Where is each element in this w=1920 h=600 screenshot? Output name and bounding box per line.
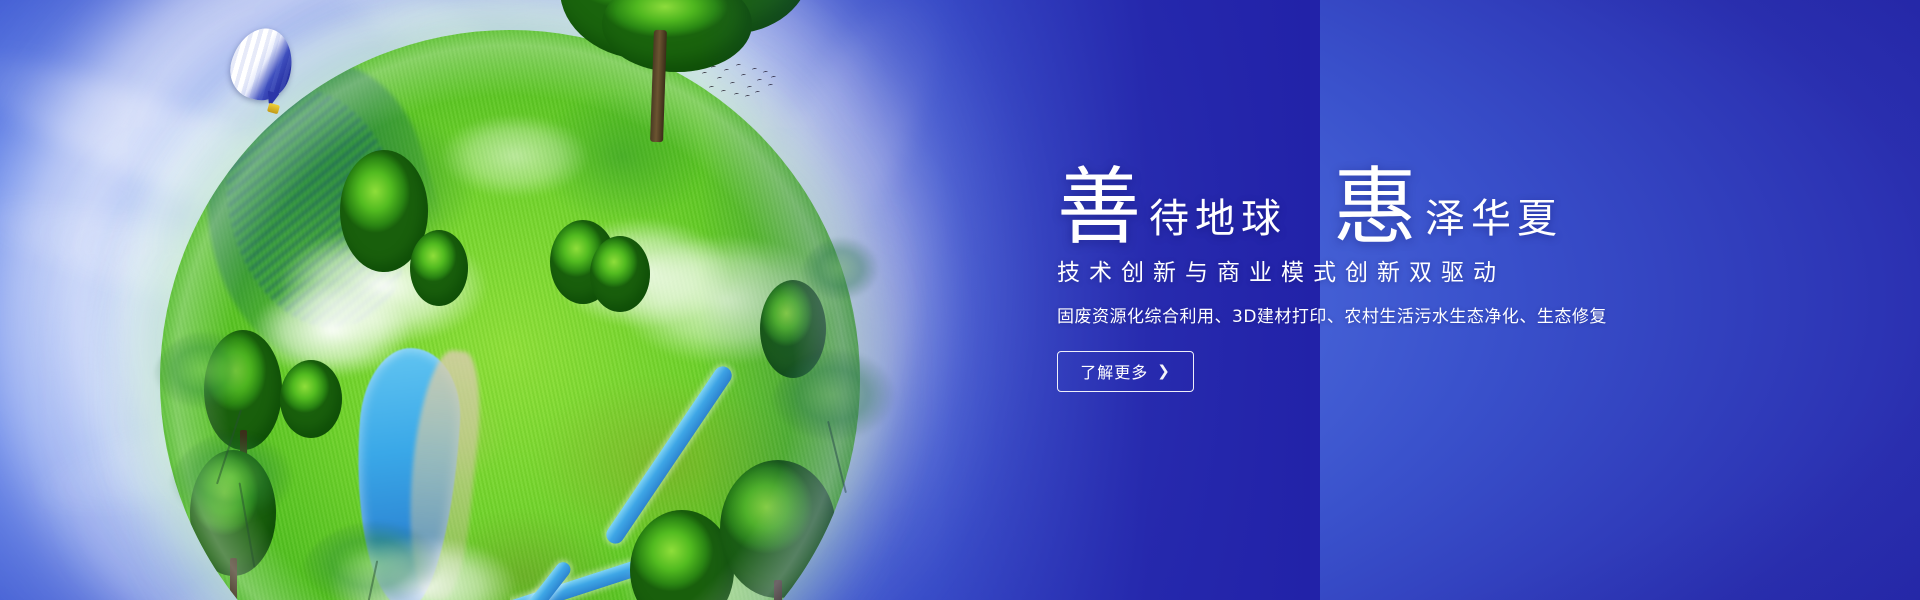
chevron-right-icon: ❯	[1157, 364, 1171, 379]
headline-text-small-2: 泽华夏	[1425, 199, 1563, 239]
page-title: 善 待地球 惠 泽华夏	[1057, 150, 1677, 246]
headline-char-large-1: 善	[1057, 169, 1141, 246]
learn-more-button[interactable]: 了解更多 ❯	[1057, 351, 1194, 392]
hero-subtitle: 技术创新与商业模式创新双驱动	[1057, 260, 1677, 288]
headline-group-2: 惠 泽华夏	[1333, 169, 1563, 246]
learn-more-label: 了解更多	[1080, 359, 1148, 383]
headline-char-large-2: 惠	[1333, 169, 1417, 246]
headline-text-small-1: 待地球	[1149, 199, 1287, 239]
hero-copy: 善 待地球 惠 泽华夏 技术创新与商业模式创新双驱动 固废资源化综合利用、3D建…	[1057, 150, 1677, 392]
hero-banner: 善 待地球 惠 泽华夏 技术创新与商业模式创新双驱动 固废资源化综合利用、3D建…	[0, 0, 1920, 600]
hero-description: 固废资源化综合利用、3D建材打印、农村生活污水生态净化、生态修复	[1057, 306, 1677, 329]
headline-group-1: 善 待地球	[1057, 169, 1287, 246]
